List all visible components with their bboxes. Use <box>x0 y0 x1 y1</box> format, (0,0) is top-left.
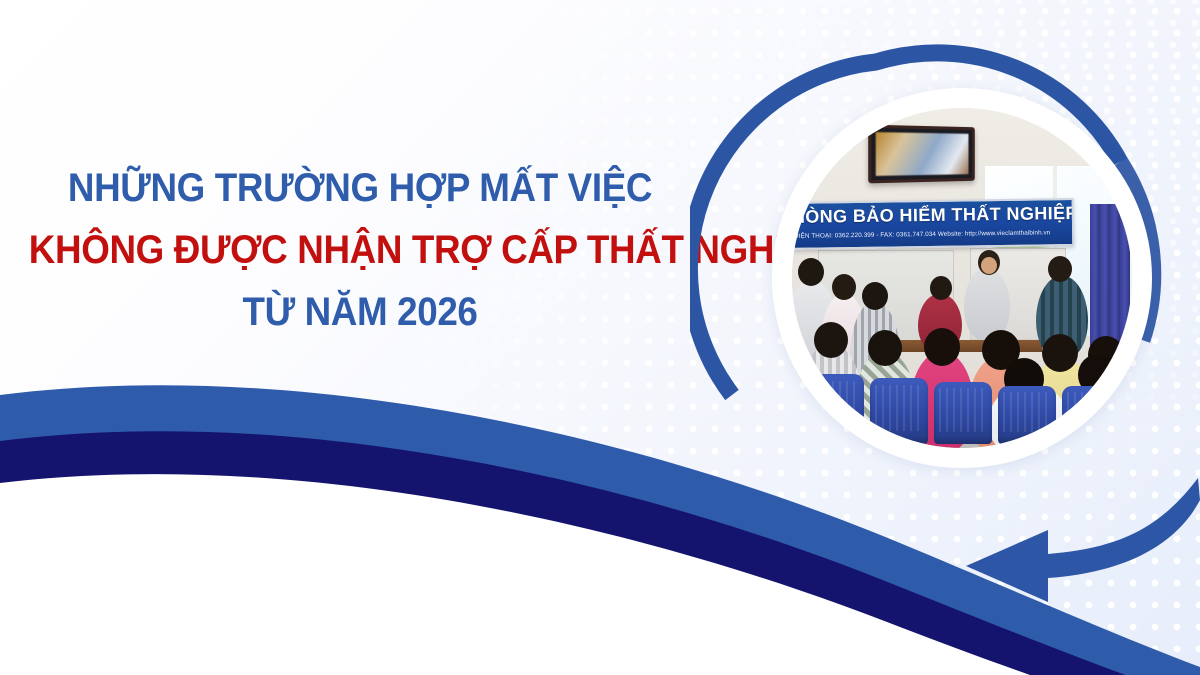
poster-canvas: NHỮNG TRƯỜNG HỢP MẤT VIỆC KHÔNG ĐƯỢC NHẬ… <box>0 0 1200 675</box>
bottom-wave-band <box>0 335 1200 675</box>
scene-person-glasses-head <box>930 276 952 300</box>
scene-person-left-1-head <box>798 258 824 286</box>
scene-banner: HÒNG BẢO HIỂM THẤT NGHIỆP ĐIỆN THOẠI: 03… <box>792 198 1074 250</box>
scene-banner-title: HÒNG BẢO HIỂM THẤT NGHIỆP <box>792 203 1074 228</box>
scene-tv-icon <box>868 125 975 184</box>
scene-person-left-3-head <box>862 282 888 310</box>
headline-line-1: NHỮNG TRƯỜNG HỢP MẤT VIỆC <box>29 168 691 208</box>
scene-person-left-2-head <box>832 274 856 300</box>
scene-person-officer-face <box>981 257 997 274</box>
scene-curtain <box>1090 204 1130 354</box>
headline-line-2: KHÔNG ĐƯỢC NHẬN TRỢ CẤP THẤT NGHIỆP <box>29 230 691 270</box>
scene-banner-contact: ĐIỆN THOẠI: 0362.220.399 - FAX: 0361.747… <box>794 229 1074 240</box>
scene-person-plaid-head <box>1048 256 1072 282</box>
headline-line-3: TỪ NĂM 2026 <box>29 292 691 332</box>
page-title: NHỮNG TRƯỜNG HỢP MẤT VIỆC KHÔNG ĐƯỢC NHẬ… <box>0 168 720 332</box>
